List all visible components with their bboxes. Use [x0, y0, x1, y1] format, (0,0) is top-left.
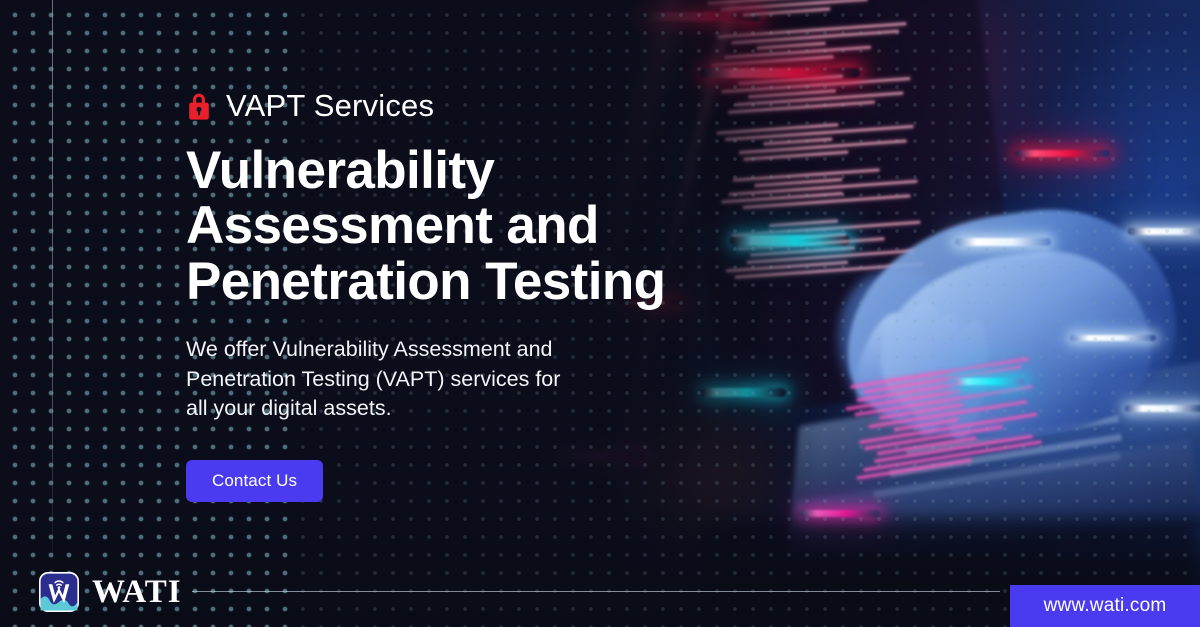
page-title: Vulnerability Assessment and Penetration… [186, 143, 746, 309]
website-url-badge[interactable]: www.wati.com [1010, 585, 1200, 627]
brand-name: WATI [92, 576, 182, 609]
vapt-services-banner: VAPT Services Vulnerability Assessment a… [0, 0, 1200, 627]
neon-streak-white [955, 238, 1051, 246]
neon-streak-white [1070, 335, 1156, 341]
lock-icon [186, 91, 212, 121]
neon-streak-cyan [955, 378, 1025, 385]
footer-divider [192, 591, 1000, 592]
brand-lockup: WATI [38, 571, 182, 613]
neon-streak-white [1128, 228, 1200, 235]
vertical-accent-line [52, 0, 53, 560]
hero-content: VAPT Services Vulnerability Assessment a… [186, 90, 746, 502]
neon-streak-red [1015, 150, 1110, 157]
hero-description: We offer Vulnerability Assessment and Pe… [186, 335, 626, 424]
contact-us-button[interactable]: Contact Us [186, 460, 323, 502]
eyebrow-row: VAPT Services [186, 90, 746, 121]
wati-logo-icon [38, 571, 80, 613]
neon-streak-white [1125, 405, 1200, 412]
footer: WATI www.wati.com [0, 555, 1200, 627]
eyebrow-label: VAPT Services [226, 90, 434, 121]
